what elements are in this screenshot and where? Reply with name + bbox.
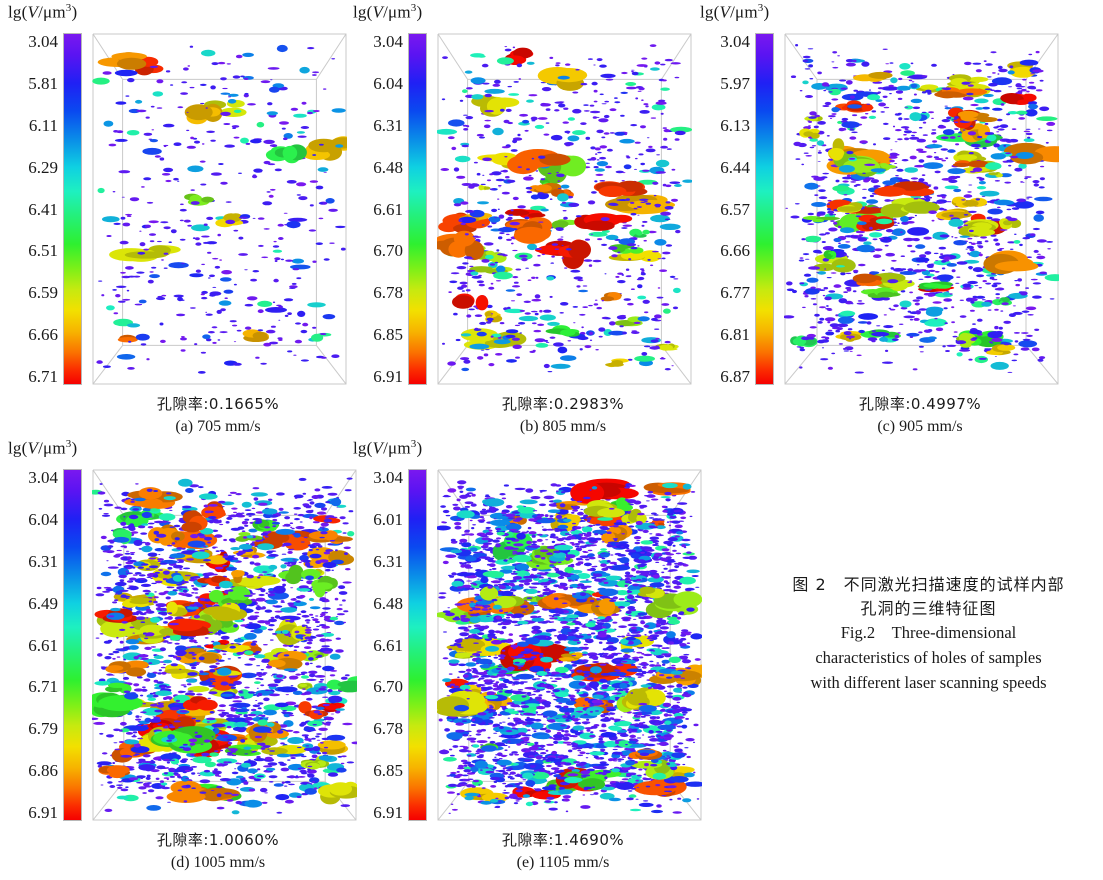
pore-speck [556, 172, 559, 173]
pore-speck [1038, 129, 1041, 130]
pore-speck [103, 551, 108, 553]
pore-speck [862, 189, 867, 190]
pore-speck [137, 654, 148, 657]
pore-speck [97, 761, 112, 765]
pore-speck [140, 578, 146, 580]
pore-speck [129, 645, 139, 650]
pore-speck [968, 211, 977, 213]
pore-speck [168, 655, 175, 657]
pore-speck [335, 549, 338, 551]
pore-speck [173, 772, 178, 774]
pore-speck [674, 184, 682, 187]
pore-speck [163, 571, 170, 575]
pore-speck [974, 285, 978, 286]
pore-speck [255, 736, 262, 738]
pore-speck [266, 551, 272, 554]
pore-speck [1031, 279, 1038, 281]
pore-speck [666, 244, 672, 247]
pore-speck [817, 140, 824, 146]
pore-speck [202, 334, 210, 339]
pore-speck [987, 209, 1002, 215]
pore-speck [901, 268, 906, 270]
pore-speck [235, 493, 241, 495]
pore-speck [305, 631, 311, 634]
pore-speck [466, 116, 474, 119]
pore-speck [635, 142, 641, 144]
pore-speck [660, 496, 670, 498]
pore-speck [558, 101, 565, 103]
pore-speck [943, 129, 955, 135]
pore-speck [913, 299, 920, 301]
pore-speck [282, 584, 286, 587]
pore-speck [804, 295, 808, 297]
pore-speck [209, 752, 219, 756]
colorbar-tick-a-3: 6.29 [28, 159, 58, 176]
pore-speck [1018, 117, 1025, 120]
pore-speck [484, 125, 491, 129]
pore-speck [281, 259, 284, 261]
pore-speck [171, 663, 178, 666]
pore-speck [188, 690, 194, 692]
pore-speck [249, 516, 252, 517]
pore-speck [210, 85, 216, 89]
pore-speck [201, 744, 204, 745]
pore-speck [306, 627, 312, 629]
pore-speck [144, 612, 150, 614]
pore-speck [638, 91, 642, 92]
pore-speck [947, 168, 965, 174]
pore-speck [910, 112, 922, 121]
pore-speck [167, 586, 172, 588]
pore-speck [897, 138, 903, 140]
pore-speck [307, 721, 322, 727]
pore-speck [146, 609, 151, 612]
pore-speck [966, 249, 968, 250]
pore-speck [109, 785, 115, 788]
pore-speck [266, 600, 278, 605]
pore-speck [330, 540, 335, 542]
pore-speck [793, 142, 801, 146]
pore-speck [284, 298, 293, 301]
pore-speck [961, 199, 965, 200]
pore-speck [231, 528, 241, 531]
pore-speck [682, 180, 692, 183]
pore-speck [662, 565, 665, 566]
pore-speck [825, 337, 829, 340]
pore-speck [161, 259, 164, 260]
pore-speck [936, 328, 943, 332]
pore-speck [114, 507, 121, 509]
pore-speck [637, 737, 641, 738]
pore-speck [807, 223, 814, 225]
pore-speck [1037, 239, 1047, 242]
pore-speck [321, 523, 329, 527]
pore-speck [463, 125, 468, 127]
porosity-d: 孔隙率:1.0060% [157, 831, 279, 849]
pore-speck [290, 527, 292, 528]
porosity-b: 孔隙率:0.2983% [502, 395, 624, 413]
pore-speck [953, 240, 967, 245]
pore-speck [296, 634, 304, 638]
pore-speck [813, 113, 817, 115]
pore-speck [842, 299, 844, 300]
pore-speck [979, 358, 987, 360]
pore-speck [244, 78, 249, 80]
pore-speck [104, 504, 114, 507]
pore-speck [535, 338, 546, 342]
pore-speck [572, 130, 586, 135]
pore-speck [635, 158, 638, 159]
pore-speck [493, 84, 501, 87]
pore-speck [487, 226, 492, 228]
pore-speck [269, 87, 280, 93]
pore-speck [496, 266, 505, 273]
pore-speck [115, 70, 138, 76]
pore-speck [1036, 89, 1043, 91]
pore-speck [478, 275, 482, 277]
box-diagonal [661, 34, 691, 79]
pore-speck [247, 535, 254, 538]
pore-speck [205, 312, 207, 313]
pore-speck [126, 551, 129, 552]
pore-speck [192, 551, 210, 559]
pore-speck [115, 139, 128, 142]
pore-speck [637, 64, 648, 67]
pore-speck [93, 722, 105, 725]
pore-speck [308, 741, 311, 742]
pore-speck [538, 156, 545, 159]
pore-speck [136, 334, 150, 341]
pore-speck [185, 488, 194, 493]
pore-speck [257, 688, 259, 689]
pore-blob [118, 335, 138, 343]
pore-speck [843, 291, 848, 293]
pore-speck [588, 200, 595, 204]
pore-speck [808, 213, 814, 216]
pore-speck [161, 672, 166, 675]
pore-speck [343, 532, 347, 534]
pore-speck [240, 76, 245, 78]
pore-speck [874, 187, 878, 189]
pore-speck [204, 649, 206, 650]
pore-speck [1026, 129, 1031, 130]
pore-speck [692, 575, 699, 577]
pore-speck [257, 122, 265, 128]
pore-speck [211, 790, 214, 791]
pore-speck [919, 308, 927, 310]
pore-speck [506, 234, 510, 235]
pore-speck [140, 532, 147, 534]
pore-speck [987, 201, 990, 203]
pore-speck [1039, 256, 1045, 258]
pore-speck [160, 323, 164, 326]
pore-speck [182, 506, 192, 509]
pore-speck [1033, 282, 1041, 284]
pore-speck [293, 114, 307, 118]
pore-speck [642, 221, 647, 223]
pore-speck [343, 610, 348, 612]
pore-speck [144, 638, 148, 640]
pore-speck [847, 175, 851, 178]
pore-speck [140, 716, 142, 717]
pore-speck [190, 46, 193, 48]
pore-speck [316, 690, 319, 691]
pore-speck [208, 277, 211, 278]
pore-speck [820, 358, 828, 360]
pore-speck [505, 49, 512, 52]
pore-speck [104, 656, 111, 659]
pore-speck [535, 294, 541, 298]
pore-speck [1039, 107, 1049, 112]
pore-speck [637, 775, 642, 777]
pore-speck [934, 156, 939, 158]
pore-speck [232, 700, 242, 702]
pore-speck [482, 158, 492, 162]
pore-speck [327, 689, 332, 692]
pore-speck [207, 721, 210, 722]
pore-speck [634, 356, 655, 362]
pore-speck [194, 343, 197, 345]
pore-speck [1046, 122, 1055, 126]
pore-speck [918, 331, 922, 333]
pore-speck [565, 63, 570, 65]
pore-speck [931, 64, 937, 67]
pore-speck [208, 331, 215, 333]
pore-speck [893, 304, 899, 307]
pore-speck [309, 651, 313, 652]
pore-speck [317, 740, 321, 741]
box-diagonal [785, 34, 817, 79]
pore-speck [268, 762, 278, 765]
pore-speck [845, 346, 854, 350]
pore-speck [804, 153, 809, 154]
pore-speck [222, 556, 228, 558]
pore-speck [175, 537, 180, 540]
pore-speck [312, 495, 320, 499]
pore-speck [804, 183, 818, 190]
pore-speck [319, 144, 324, 146]
pore-speck [209, 520, 214, 524]
pore-speck [568, 340, 572, 341]
pore-speck [219, 259, 222, 260]
pore-speck [187, 166, 203, 173]
pore-speck [454, 203, 461, 206]
pore-volume-render-c [784, 33, 1059, 385]
pore-speck [954, 116, 959, 119]
pore-speck [201, 236, 210, 238]
pore-speck [870, 195, 874, 197]
pore-speck [280, 763, 287, 766]
pore-speck [154, 596, 159, 598]
pore-speck [185, 778, 189, 779]
pore-speck [1017, 88, 1023, 89]
pore-speck [667, 148, 672, 150]
pore-speck [144, 133, 153, 136]
pore-speck [556, 227, 564, 231]
pore-speck [281, 768, 290, 772]
pore-speck [494, 217, 497, 218]
pore-speck [650, 44, 657, 47]
pore-speck [861, 61, 869, 66]
pore-speck [217, 310, 222, 314]
pore-speck [536, 343, 549, 348]
pore-speck [957, 352, 963, 356]
pore-speck [538, 222, 543, 223]
pore-speck [306, 622, 310, 624]
pore-speck [114, 742, 118, 743]
pore-speck [896, 169, 903, 172]
pore-speck [803, 253, 809, 255]
pore-speck [117, 796, 129, 800]
pore-speck [652, 104, 666, 110]
pore-speck [1038, 359, 1044, 362]
pore-speck [120, 722, 127, 726]
pore-speck [294, 495, 304, 499]
pore-speck [202, 143, 205, 144]
pore-speck [904, 138, 909, 141]
pore-speck [971, 243, 976, 245]
pore-speck [142, 703, 146, 704]
pore-speck [491, 283, 494, 285]
pore-speck [330, 617, 339, 621]
pore-speck [189, 639, 197, 642]
pore-speck [323, 651, 332, 654]
pore-speck [258, 245, 264, 247]
pore-speck [552, 243, 558, 246]
pore-speck [980, 236, 987, 238]
pore-speck [538, 192, 544, 194]
pore-speck [234, 341, 236, 342]
pore-speck [941, 160, 946, 162]
pore-speck [982, 299, 986, 300]
pore-speck [563, 108, 568, 110]
pore-speck [206, 131, 215, 133]
pore-speck [209, 504, 218, 507]
pore-speck [158, 759, 162, 761]
pore-speck [1016, 152, 1034, 159]
pore-speck [309, 229, 316, 231]
pore-speck [533, 330, 541, 332]
pore-speck [336, 638, 341, 640]
pore-speck [153, 490, 158, 492]
pore-speck [295, 322, 301, 324]
pore-speck [813, 303, 817, 305]
pore-speck [944, 307, 948, 309]
pore-speck [206, 572, 214, 576]
pore-speck [141, 546, 152, 552]
pore-speck [922, 112, 926, 113]
pore-speck [133, 755, 138, 756]
pore-speck [287, 602, 294, 605]
caption-d: 孔隙率:1.0060% (d) 1005 mm/s [68, 830, 368, 873]
pore-speck [227, 726, 231, 728]
pore-speck [167, 642, 173, 644]
pore-speck [234, 137, 240, 139]
pore-speck [822, 173, 829, 175]
pore-speck [160, 157, 165, 160]
pore-speck [110, 608, 121, 611]
pore-speck [963, 97, 974, 101]
pore-speck [260, 589, 265, 593]
pore-speck [943, 292, 950, 296]
pore-speck [527, 244, 537, 251]
pore-speck [823, 246, 834, 250]
pore-speck [1003, 145, 1006, 147]
pore-speck [282, 630, 289, 634]
pore-speck [449, 673, 453, 674]
pore-speck [274, 783, 284, 787]
pore-speck [131, 746, 150, 753]
pore-speck [869, 116, 876, 119]
pore-speck [546, 342, 549, 343]
pore-speck [597, 152, 601, 154]
pore-speck [135, 572, 142, 575]
pore-speck [220, 277, 232, 281]
pore-speck [216, 659, 219, 661]
pore-speck [138, 786, 146, 789]
pore-speck [150, 517, 153, 518]
pore-speck [215, 266, 220, 269]
pore-speck [272, 525, 276, 527]
pore-speck [1014, 234, 1017, 235]
pore-speck [580, 348, 583, 350]
pore-speck [852, 60, 856, 62]
pore-speck [824, 287, 829, 289]
pore-speck [817, 321, 822, 324]
pore-speck [928, 210, 937, 214]
pore-speck [1034, 329, 1039, 331]
pore-speck [1034, 183, 1039, 186]
pore-speck [179, 669, 182, 670]
pore-speck [104, 121, 114, 127]
pore-speck [506, 109, 512, 112]
pore-speck [345, 568, 351, 570]
pore-speck [496, 179, 505, 182]
pore-speck [865, 113, 868, 114]
pore-speck [813, 250, 822, 253]
pore-speck [171, 760, 175, 761]
pore-speck [347, 478, 353, 480]
pore-speck [566, 248, 572, 250]
pore-speck [641, 58, 647, 60]
pore-speck [697, 798, 700, 800]
pore-speck [190, 743, 196, 746]
pore-speck [331, 58, 335, 59]
pore-speck [1008, 372, 1013, 373]
plot-e [437, 469, 702, 821]
pore-speck [181, 263, 185, 264]
pore-speck [524, 217, 529, 220]
pore-speck [1003, 321, 1011, 324]
pore-speck [449, 813, 451, 814]
pore-speck [923, 237, 931, 240]
pore-speck [191, 667, 196, 669]
pore-speck [984, 60, 987, 62]
pore-speck [626, 156, 630, 158]
pore-speck [876, 325, 880, 326]
pore-speck [461, 333, 471, 336]
pore-speck [247, 575, 254, 579]
pore-speck [268, 619, 277, 623]
pore-speck [1033, 214, 1044, 221]
pore-speck [494, 339, 511, 344]
pore-speck [994, 90, 1002, 92]
pore-speck [650, 265, 653, 267]
pore-speck [860, 116, 867, 119]
pore-speck [1034, 197, 1052, 202]
pore-speck [891, 260, 897, 262]
pore-speck [884, 199, 891, 202]
